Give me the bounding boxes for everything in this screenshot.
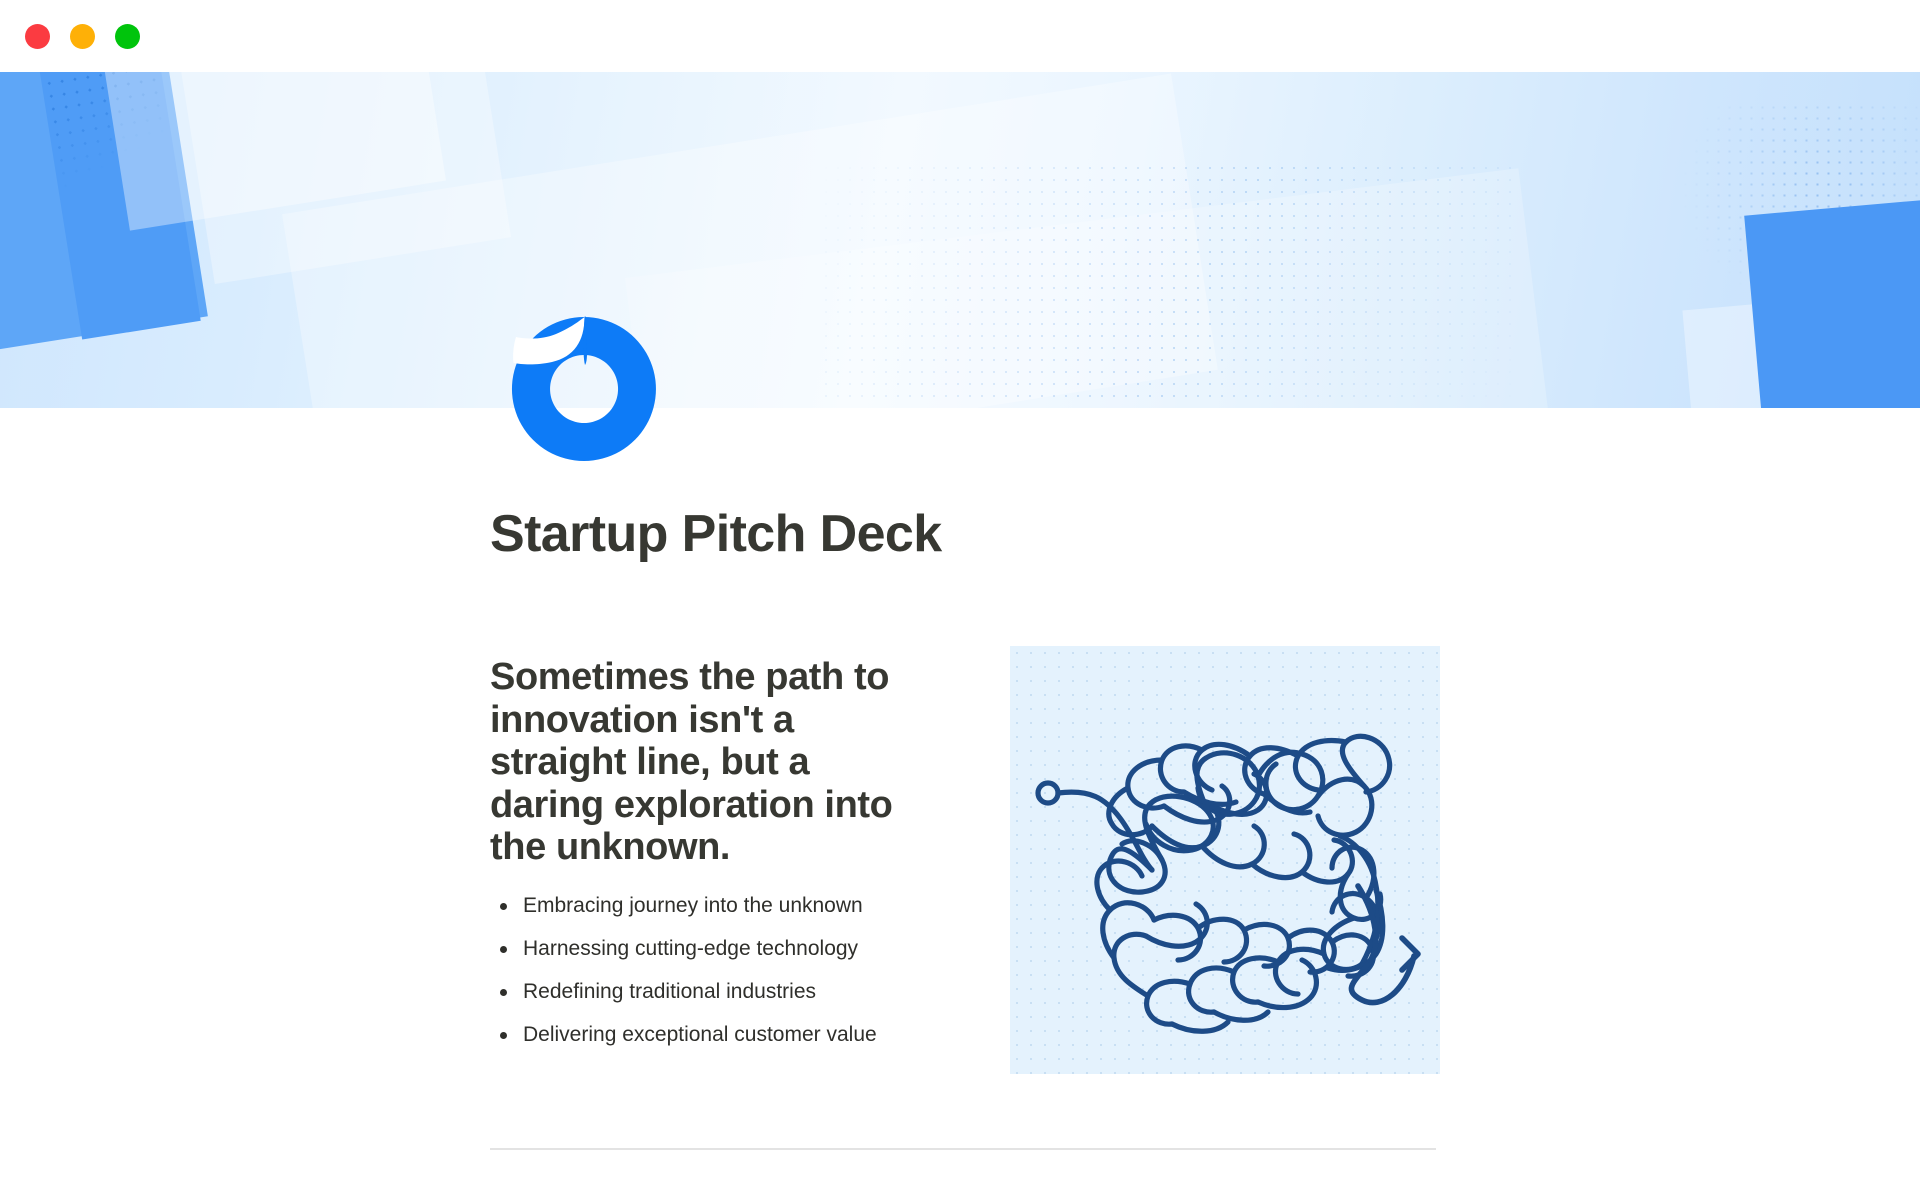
text-column: Sometimes the path to innovation isn't a…: [490, 646, 910, 1045]
feature-bullet-list: Embracing journey into the unknown Harne…: [490, 895, 910, 1045]
content-row: Sometimes the path to innovation isn't a…: [490, 646, 1440, 1074]
page-title: Startup Pitch Deck: [490, 504, 942, 564]
list-item-label: Embracing journey into the unknown: [523, 894, 863, 917]
bullet-dot-icon: [500, 989, 507, 996]
app-window: Startup Pitch Deck Sometimes the path to…: [0, 0, 1920, 1200]
list-item: Delivering exceptional customer value: [490, 1024, 910, 1045]
list-item-label: Delivering exceptional customer value: [523, 1023, 877, 1046]
list-item-label: Redefining traditional industries: [523, 980, 816, 1003]
tangled-path-illustration: [1010, 646, 1440, 1074]
banner-dot-texture-mid: [820, 162, 1520, 402]
bullet-dot-icon: [500, 903, 507, 910]
banner-blue-block-right: [1744, 190, 1920, 408]
section-divider: [490, 1148, 1436, 1150]
traffic-light-controls: [25, 24, 140, 49]
bullet-dot-icon: [500, 946, 507, 953]
maximize-window-button[interactable]: [115, 24, 140, 49]
window-titlebar: [0, 0, 1920, 72]
list-item: Harnessing cutting-edge technology: [490, 938, 910, 959]
brand-logo-icon: [508, 313, 660, 465]
close-window-button[interactable]: [25, 24, 50, 49]
list-item-label: Harnessing cutting-edge technology: [523, 937, 858, 960]
minimize-window-button[interactable]: [70, 24, 95, 49]
list-item: Redefining traditional industries: [490, 981, 910, 1002]
list-item: Embracing journey into the unknown: [490, 895, 910, 916]
hero-banner: [0, 72, 1920, 408]
section-headline: Sometimes the path to innovation isn't a…: [490, 656, 910, 869]
bullet-dot-icon: [500, 1032, 507, 1039]
